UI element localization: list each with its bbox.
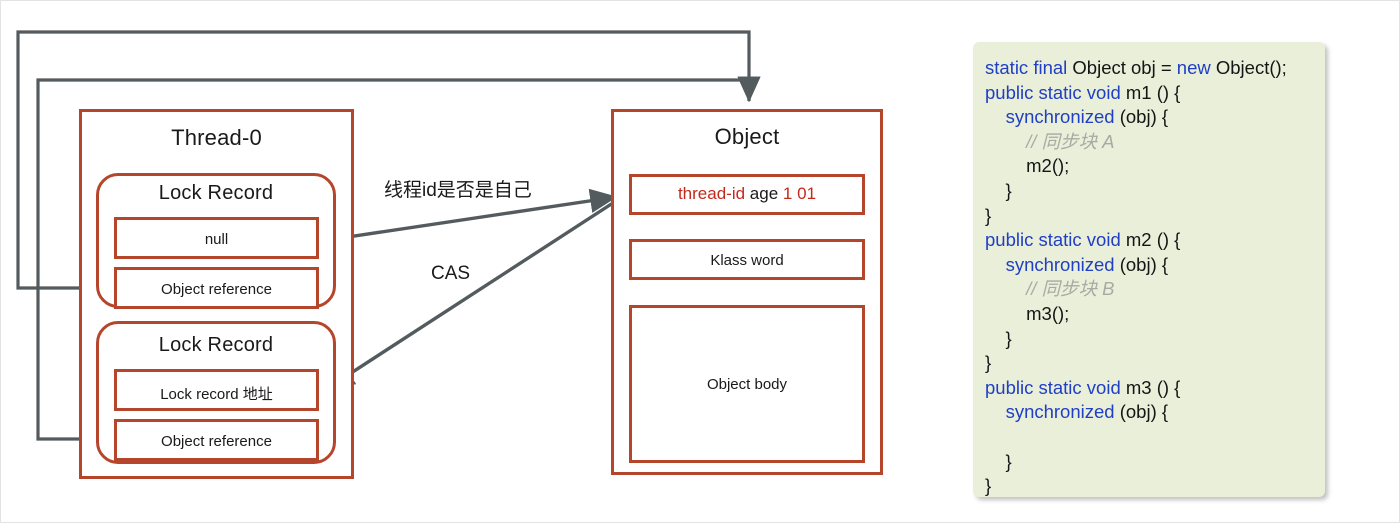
code-text: Object obj = [1072,57,1176,78]
code-line: } [985,474,1325,497]
code-line: // 同步块 B [985,277,1325,302]
code-text: } [985,180,1012,201]
code-line: public static void m3 () { [985,376,1325,401]
code-text: m3 () { [1126,377,1180,398]
code-keyword: synchronized [1006,254,1120,275]
diagram-page: Thread-0 Lock Record null Object referen… [0,0,1400,523]
code-line: synchronized (obj) { [985,400,1325,425]
mark-word-thread-id: thread-id [678,184,745,203]
code-line: } [985,351,1325,376]
code-line: public static void m2 () { [985,228,1325,253]
code-line: } [985,327,1325,352]
object-title: Object [611,124,883,150]
code-text: (obj) { [1120,401,1168,422]
lock-record-1-title: Lock Record [96,182,336,205]
code-text [985,131,1026,152]
object-klass-word-label: Klass word [629,252,865,269]
code-line: } [985,179,1325,204]
code-keyword: public static void [985,229,1126,250]
code-keyword: new [1177,57,1216,78]
lock-record-1-cell-mark-label: null [114,231,319,248]
code-text: Object(); [1216,57,1287,78]
code-text: m3(); [985,303,1069,324]
code-line: static final Object obj = new Object(); [985,56,1325,81]
mark-word-age: age [750,184,778,203]
code-line: synchronized (obj) { [985,253,1325,278]
code-line: // 同步块 A [985,130,1325,155]
code-keyword: public static void [985,82,1126,103]
lock-record-2-cell-objref-label: Object reference [114,433,319,450]
code-line: public static void m1 () { [985,81,1325,106]
code-line: m3(); [985,302,1325,327]
thread-id-check-label: 线程id是否是自己 [384,175,532,202]
code-line: } [985,450,1325,475]
code-comment: // 同步块 A [1026,131,1114,152]
code-text: m1 () { [1126,82,1180,103]
code-text: } [985,475,991,496]
code-text: } [985,328,1012,349]
cas-arrow [328,201,616,388]
code-line: } [985,204,1325,229]
code-text: } [985,451,1012,472]
code-line: synchronized (obj) { [985,105,1325,130]
object-body-label: Object body [629,376,865,393]
thread-title: Thread-0 [79,125,354,151]
code-text [985,106,1006,127]
mark-word-biased-bit: 1 [783,184,792,203]
cas-label: CAS [431,263,470,285]
code-line: m2(); [985,154,1325,179]
lock-diagram: Thread-0 Lock Record null Object referen… [1,1,961,523]
thread-id-check-arrow [321,197,616,241]
mark-word-lock-bits: 01 [797,184,816,203]
code-text [985,278,1026,299]
code-text: } [985,352,991,373]
code-line [985,425,1325,450]
code-text [985,254,1006,275]
code-keyword: synchronized [1006,106,1120,127]
code-text [985,401,1006,422]
code-text: (obj) { [1120,254,1168,275]
lock-record-1-cell-objref-label: Object reference [114,281,319,298]
code-keyword: synchronized [1006,401,1120,422]
code-text [985,426,990,447]
code-keyword: public static void [985,377,1126,398]
code-keyword: static final [985,57,1072,78]
code-comment: // 同步块 B [1026,278,1114,299]
lock-record-2-cell-address-label: Lock record 地址 [114,383,319,404]
code-text: (obj) { [1120,106,1168,127]
code-text: m2 () { [1126,229,1180,250]
code-text: } [985,205,991,226]
code-text: m2(); [985,155,1069,176]
object-mark-word-label: thread-id age 1 01 [629,184,865,204]
code-panel: static final Object obj = new Object();p… [973,42,1325,497]
lock-record-2-title: Lock Record [96,334,336,357]
code-lines: static final Object obj = new Object();p… [985,56,1325,497]
